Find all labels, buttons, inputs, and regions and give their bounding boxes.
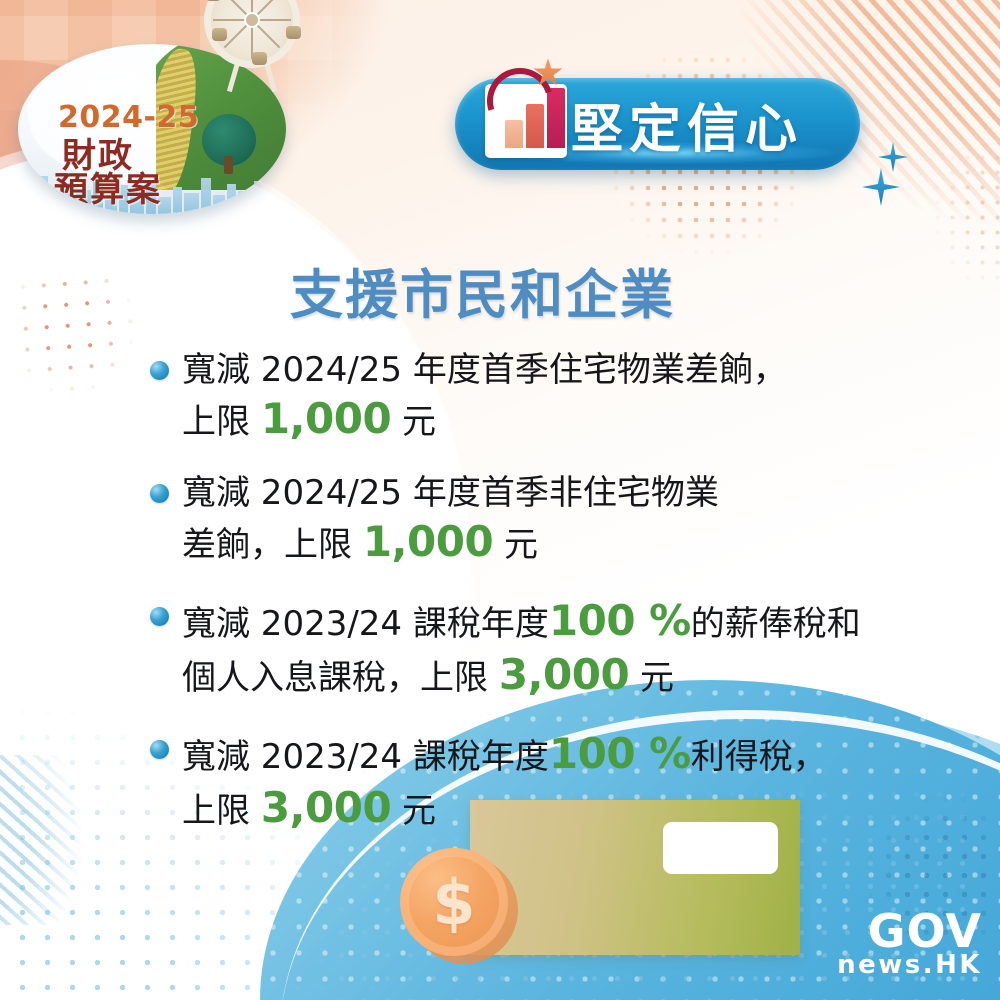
list-item-unit: 元 <box>493 525 538 565</box>
list-item-text: 上限 <box>182 791 261 831</box>
list-item-text: 寬減 2024/25 年度首季住宅物業差餉， <box>182 350 787 390</box>
diagonal-hatch-decoration-bottom-left <box>0 755 105 925</box>
logo-text-bottom: news.HK <box>837 952 982 978</box>
amount-value: 1,000 <box>363 517 493 566</box>
emblem-title-line2: 預算案 <box>54 162 162 211</box>
amount-value: 1,000 <box>261 394 391 443</box>
list-item-text: 利得稅， <box>691 737 827 777</box>
bullet-dot-icon <box>150 361 169 380</box>
list-item-line-1: 寬減 2023/24 課稅年度100 %的薪俸稅和 <box>182 594 930 649</box>
envelope-window <box>663 822 778 874</box>
list-item-text: 上限 <box>182 402 261 442</box>
amount-value: 3,000 <box>261 783 391 832</box>
ferris-wheel-cabin <box>212 28 227 41</box>
list-item-line-1: 寬減 2023/24 課稅年度100 %利得稅， <box>182 727 930 782</box>
page-title: 支援市民和企業 <box>290 253 675 329</box>
list-item-line-1: 寬減 2024/25 年度首季住宅物業差餉， <box>182 348 930 392</box>
list-item-line-1: 寬減 2024/25 年度首季非住宅物業 <box>182 471 930 515</box>
ferris-wheel-spoke <box>251 0 253 59</box>
list-item: 寬減 2024/25 年度首季住宅物業差餉， 上限 1,000 元 <box>150 348 930 447</box>
percentage-value: 100 % <box>549 729 691 778</box>
list-item: 寬減 2024/25 年度首季非住宅物業 差餉，上限 1,000 元 <box>150 471 930 570</box>
ferris-wheel-icon <box>204 0 300 68</box>
budget-emblem: 2024-25 財政 預算案 <box>6 6 296 221</box>
list-item-text: 個人入息課稅，上限 <box>182 658 499 698</box>
percentage-value: 100 % <box>549 596 691 645</box>
bullet-dot-icon <box>150 607 169 626</box>
list-item-text: 差餉，上限 <box>182 525 363 565</box>
ferris-wheel-cabin <box>252 52 267 65</box>
dollar-coin-icon: $ <box>400 848 518 966</box>
badge-label: 堅定信心 <box>571 87 803 162</box>
orange-halftone-dots-decoration <box>12 267 161 406</box>
list-item: 寬減 2023/24 課稅年度100 %的薪俸稅和 個人入息課稅，上限 3,00… <box>150 594 930 703</box>
bullet-dot-icon <box>150 484 169 503</box>
bullet-dot-icon <box>150 740 169 759</box>
list-item-unit: 元 <box>391 791 436 831</box>
list-item-text: 寬減 2024/25 年度首季非住宅物業 <box>182 473 719 513</box>
list-item-line-2: 個人入息課稅，上限 3,000 元 <box>182 648 930 703</box>
coin-symbol: $ <box>400 848 508 956</box>
ferris-wheel-cabin <box>286 26 301 39</box>
infographic-poster: 2024-25 財政 預算案 堅定信心 <box>0 0 1000 1000</box>
orange-dots-right-edge <box>900 150 1000 300</box>
list-item-unit: 元 <box>391 402 436 442</box>
list-item-text: 寬減 2023/24 課稅年度 <box>182 604 549 644</box>
envelope-icon <box>470 800 800 955</box>
measures-list: 寬減 2024/25 年度首季住宅物業差餉， 上限 1,000 元 寬減 202… <box>150 348 930 860</box>
list-item-text: 的薪俸稅和 <box>691 604 861 644</box>
list-item-text: 寬減 2023/24 課稅年度 <box>182 737 549 777</box>
govhk-news-logo: GOV news.HK <box>837 910 982 978</box>
bar-chart-growth-icon <box>475 60 579 164</box>
logo-text-top: GOV <box>837 910 982 952</box>
list-item-line-2: 上限 1,000 元 <box>182 392 930 447</box>
amount-value: 3,000 <box>499 650 629 699</box>
list-item-unit: 元 <box>629 658 674 698</box>
ferris-wheel-hub <box>244 12 260 28</box>
list-item-line-2: 差餉，上限 1,000 元 <box>182 515 930 570</box>
